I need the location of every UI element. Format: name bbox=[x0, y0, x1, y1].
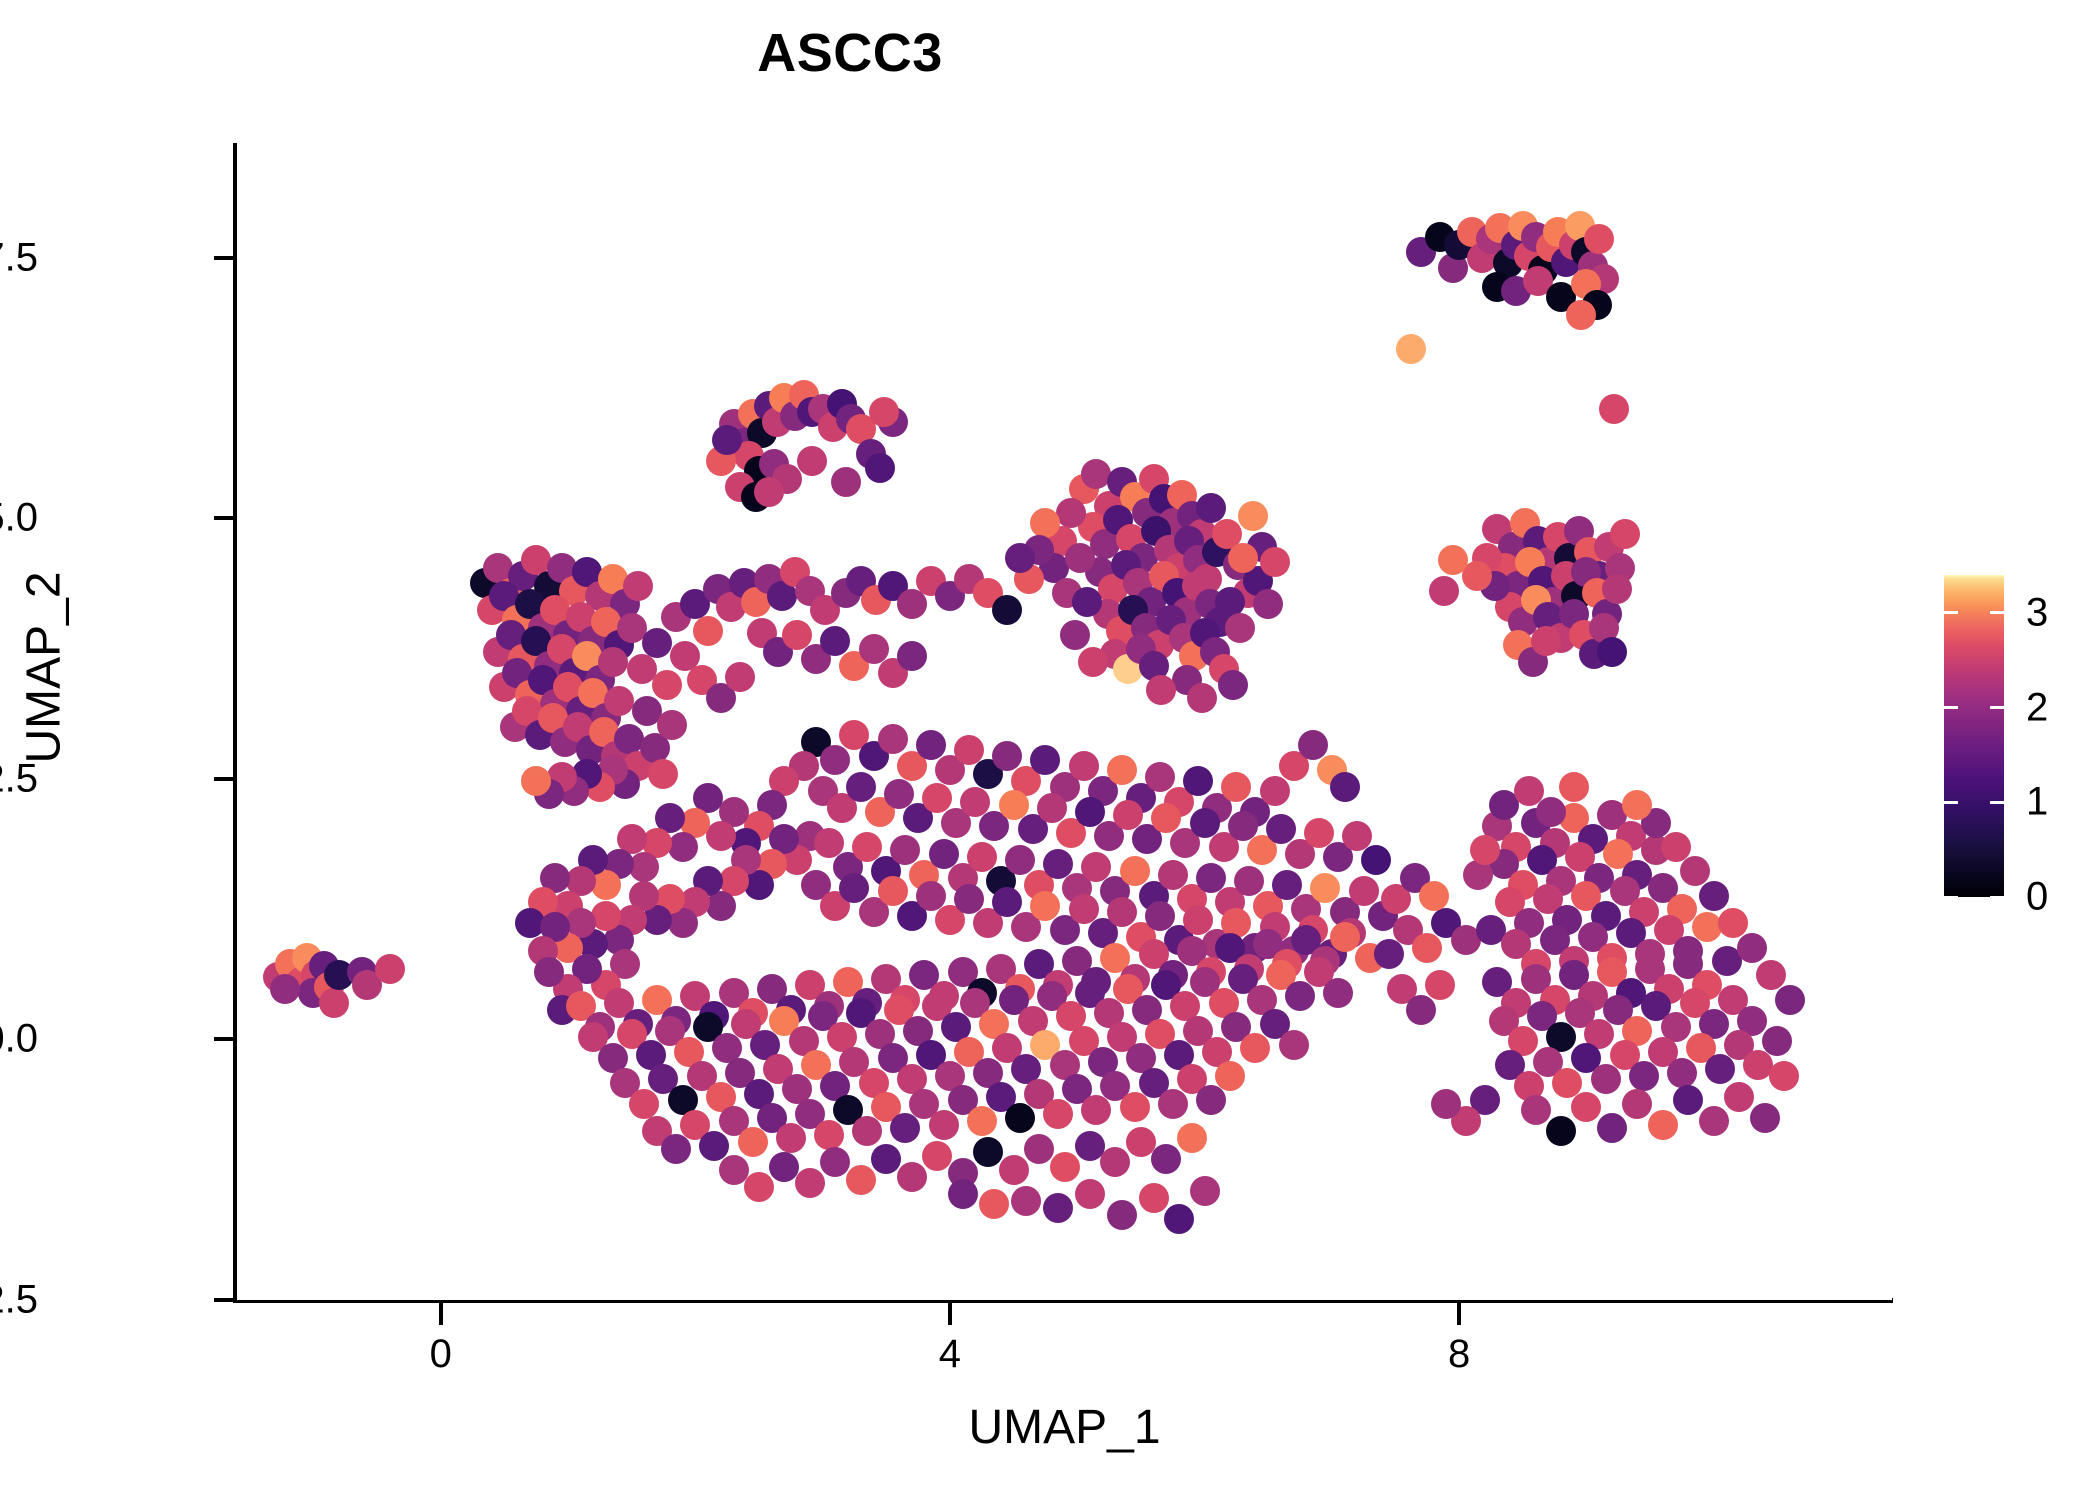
y-tick-mark bbox=[214, 256, 236, 260]
scatter-point bbox=[831, 467, 861, 497]
scatter-point bbox=[1429, 576, 1459, 606]
scatter-point bbox=[1470, 835, 1500, 865]
scatter-point bbox=[795, 1168, 825, 1198]
colorbar-tick-mark bbox=[1944, 706, 1958, 709]
scatter-point bbox=[1056, 498, 1086, 528]
scatter-point bbox=[890, 1113, 920, 1143]
x-tick-label: 8 bbox=[1448, 1332, 1470, 1377]
scatter-point bbox=[1196, 493, 1226, 523]
scatter-point bbox=[865, 453, 895, 483]
scatter-point bbox=[992, 887, 1022, 917]
scatter-point bbox=[754, 477, 784, 507]
scatter-point bbox=[897, 641, 927, 671]
scatter-point bbox=[1349, 876, 1379, 906]
scatter-point bbox=[1762, 1026, 1792, 1056]
scatter-point bbox=[1215, 1061, 1245, 1091]
scatter-point bbox=[693, 616, 723, 646]
scatter-point bbox=[668, 832, 698, 862]
scatter-point bbox=[1005, 1103, 1035, 1133]
scatter-point bbox=[1680, 856, 1710, 886]
y-tick-mark bbox=[214, 516, 236, 520]
scatter-point bbox=[1005, 845, 1035, 875]
scatter-point bbox=[1260, 776, 1290, 806]
scatter-point bbox=[1756, 960, 1786, 990]
colorbar-tick-mark bbox=[1990, 801, 2004, 804]
scatter-point bbox=[648, 759, 678, 789]
y-tick-mark bbox=[214, 1037, 236, 1041]
scatter-point bbox=[1673, 1085, 1703, 1115]
scatter-point bbox=[1078, 647, 1108, 677]
scatter-point bbox=[1005, 543, 1035, 573]
scatter-point bbox=[1667, 1058, 1697, 1088]
scatter-point bbox=[1419, 881, 1449, 911]
scatter-point bbox=[922, 1141, 952, 1171]
scatter-point bbox=[1145, 762, 1175, 792]
scatter-point bbox=[1536, 797, 1566, 827]
scatter-point bbox=[1240, 1033, 1270, 1063]
scatter-point bbox=[878, 724, 908, 754]
scatter-point bbox=[1285, 981, 1315, 1011]
scatter-point bbox=[521, 766, 551, 796]
scatter-point bbox=[1225, 613, 1255, 643]
scatter-point bbox=[1196, 1085, 1226, 1115]
scatter-point bbox=[1238, 501, 1268, 531]
scatter-point bbox=[820, 1147, 850, 1177]
scatter-point bbox=[1737, 933, 1767, 963]
scatter-point bbox=[1531, 626, 1561, 656]
scatter-point bbox=[1546, 1116, 1576, 1146]
x-axis-title: UMAP_1 bbox=[237, 1400, 1892, 1455]
scatter-point bbox=[992, 595, 1022, 625]
scatter-point bbox=[1024, 1134, 1054, 1164]
scatter-point bbox=[878, 876, 908, 906]
scatter-point bbox=[1438, 545, 1468, 575]
scatter-point bbox=[1221, 772, 1251, 802]
y-axis-title: UMAP_2 bbox=[17, 358, 72, 978]
scatter-point bbox=[916, 881, 946, 911]
scatter-point bbox=[1323, 978, 1353, 1008]
x-tick-mark bbox=[1457, 1303, 1461, 1325]
colorbar-tick-label: 2 bbox=[2026, 685, 2048, 730]
x-tick-mark bbox=[948, 1303, 952, 1325]
scatter-point bbox=[738, 1127, 768, 1157]
scatter-point bbox=[1330, 772, 1360, 802]
scatter-point bbox=[973, 1137, 1003, 1167]
scatter-point bbox=[1120, 856, 1150, 886]
scatter-point bbox=[719, 1155, 749, 1185]
y-tick-label: 7.5 bbox=[0, 235, 38, 280]
scatter-point bbox=[1599, 394, 1629, 424]
scatter-point bbox=[1591, 1064, 1621, 1094]
scatter-point bbox=[604, 686, 634, 716]
scatter-point bbox=[1177, 1123, 1207, 1153]
scatter-point bbox=[948, 1179, 978, 1209]
scatter-point bbox=[1050, 1152, 1080, 1182]
scatter-point bbox=[1769, 1061, 1799, 1091]
scatter-point bbox=[1648, 1110, 1678, 1140]
colorbar-legend: 3210 bbox=[1944, 575, 2084, 900]
scatter-point bbox=[1396, 334, 1426, 364]
scatter-point bbox=[642, 628, 672, 658]
scatter-point bbox=[1602, 574, 1632, 604]
scatter-point bbox=[375, 954, 405, 984]
scatter-point bbox=[598, 647, 628, 677]
scatter-layer bbox=[237, 143, 1892, 1300]
scatter-point bbox=[1571, 1092, 1601, 1122]
scatter-point bbox=[1699, 881, 1729, 911]
colorbar-tick-mark bbox=[1990, 896, 2004, 899]
scatter-point bbox=[820, 626, 850, 656]
scatter-point bbox=[1775, 985, 1805, 1015]
scatter-point bbox=[1298, 730, 1328, 760]
scatter-point bbox=[846, 772, 876, 802]
scatter-point bbox=[1330, 922, 1360, 952]
colorbar-tick-mark bbox=[1944, 611, 1958, 614]
colorbar-tick-label: 1 bbox=[2026, 780, 2048, 825]
scatter-point bbox=[922, 783, 952, 813]
x-tick-mark bbox=[439, 1303, 443, 1325]
scatter-point bbox=[1412, 933, 1442, 963]
scatter-point bbox=[776, 1123, 806, 1153]
scatter-point bbox=[1164, 1204, 1194, 1234]
scatter-point bbox=[657, 710, 687, 740]
scatter-point bbox=[661, 1134, 691, 1164]
scatter-point bbox=[1190, 808, 1220, 838]
scatter-point bbox=[1107, 897, 1137, 927]
scatter-point bbox=[744, 1172, 774, 1202]
scatter-point bbox=[629, 1089, 659, 1119]
scatter-point bbox=[979, 1189, 1009, 1219]
scatter-point bbox=[916, 730, 946, 760]
scatter-point bbox=[1559, 772, 1589, 802]
scatter-point bbox=[1218, 670, 1248, 700]
scatter-point bbox=[1260, 547, 1290, 577]
scatter-point bbox=[1081, 1095, 1111, 1125]
scatter-point bbox=[1069, 751, 1099, 781]
scatter-point bbox=[1139, 1183, 1169, 1213]
scatter-point bbox=[1597, 637, 1627, 667]
scatter-point bbox=[1724, 1082, 1754, 1112]
scatter-point bbox=[270, 974, 300, 1004]
scatter-point bbox=[1750, 1103, 1780, 1133]
scatter-point bbox=[1228, 543, 1258, 573]
colorbar-tick-label: 3 bbox=[2026, 590, 2048, 635]
scatter-point bbox=[1521, 1095, 1551, 1125]
scatter-point bbox=[1622, 1089, 1652, 1119]
scatter-point bbox=[1253, 589, 1283, 619]
colorbar-tick-mark bbox=[1944, 801, 1958, 804]
y-tick-label: -2.5 bbox=[0, 1278, 38, 1323]
scatter-point bbox=[1043, 1099, 1073, 1129]
scatter-point bbox=[1107, 1200, 1137, 1230]
scatter-point bbox=[1718, 908, 1748, 938]
scatter-point bbox=[1151, 1144, 1181, 1174]
colorbar-tick-mark bbox=[1990, 611, 2004, 614]
scatter-point bbox=[1011, 1186, 1041, 1216]
scatter-point bbox=[846, 1165, 876, 1195]
scatter-point bbox=[629, 852, 659, 882]
scatter-point bbox=[1266, 814, 1296, 844]
scatter-point bbox=[1043, 1193, 1073, 1223]
scatter-point bbox=[1060, 620, 1090, 650]
scatter-point bbox=[890, 835, 920, 865]
scatter-point bbox=[706, 821, 736, 851]
scatter-point bbox=[652, 670, 682, 700]
scatter-point bbox=[1699, 1106, 1729, 1136]
scatter-point bbox=[1279, 1030, 1309, 1060]
scatter-point bbox=[1158, 1089, 1188, 1119]
scatter-point bbox=[1234, 866, 1264, 896]
plot-panel bbox=[237, 143, 1892, 1300]
scatter-point bbox=[1075, 1179, 1105, 1209]
y-tick-label: 0.0 bbox=[0, 1017, 38, 1062]
scatter-point bbox=[1065, 543, 1095, 573]
scatter-point bbox=[1597, 1113, 1627, 1143]
scatter-point bbox=[319, 988, 349, 1018]
colorbar-gradient bbox=[1944, 575, 2004, 897]
scatter-point bbox=[712, 425, 742, 455]
scatter-point bbox=[797, 446, 827, 476]
scatter-point bbox=[725, 662, 755, 692]
scatter-point bbox=[1705, 1054, 1735, 1084]
scatter-point bbox=[1037, 793, 1067, 823]
y-tick-mark bbox=[214, 1298, 236, 1302]
scatter-point bbox=[820, 745, 850, 775]
scatter-point bbox=[897, 1162, 927, 1192]
scatter-point bbox=[999, 1155, 1029, 1185]
scatter-point bbox=[1629, 1061, 1659, 1091]
scatter-point bbox=[1146, 675, 1176, 705]
scatter-point bbox=[1107, 755, 1137, 785]
scatter-point bbox=[1190, 1176, 1220, 1206]
scatter-point bbox=[1406, 995, 1436, 1025]
scatter-point bbox=[859, 634, 889, 664]
x-tick-label: 4 bbox=[939, 1332, 961, 1377]
scatter-point bbox=[1374, 939, 1404, 969]
scatter-point bbox=[1425, 970, 1455, 1000]
scatter-point bbox=[1030, 745, 1060, 775]
scatter-point bbox=[929, 1110, 959, 1140]
scatter-point bbox=[1361, 845, 1391, 875]
scatter-point bbox=[1183, 766, 1213, 796]
scatter-point bbox=[852, 1116, 882, 1146]
colorbar-tick-mark bbox=[1990, 706, 2004, 709]
scatter-point bbox=[1584, 224, 1614, 254]
scatter-point bbox=[623, 571, 653, 601]
scatter-point bbox=[1566, 300, 1596, 330]
scatter-point bbox=[814, 1120, 844, 1150]
colorbar-tick-label: 0 bbox=[2026, 875, 2048, 920]
feature-plot-root: ASCC3 -2.50.02.55.07.5 048 UMAP_1 UMAP_2… bbox=[0, 0, 2100, 1500]
scatter-point bbox=[967, 1106, 997, 1136]
scatter-point bbox=[1072, 587, 1102, 617]
scatter-point bbox=[1661, 832, 1691, 862]
scatter-point bbox=[534, 957, 564, 987]
scatter-point bbox=[1610, 519, 1640, 549]
scatter-point bbox=[992, 741, 1022, 771]
scatter-point bbox=[1187, 683, 1217, 713]
scatter-point bbox=[871, 1144, 901, 1174]
x-tick-label: 0 bbox=[430, 1332, 452, 1377]
y-tick-mark bbox=[214, 777, 236, 781]
scatter-point bbox=[699, 1131, 729, 1161]
scatter-point bbox=[869, 397, 899, 427]
scatter-point bbox=[1120, 1092, 1150, 1122]
page-title: ASCC3 bbox=[0, 22, 1700, 84]
colorbar-tick-mark bbox=[1944, 896, 1958, 899]
scatter-point bbox=[1100, 1147, 1130, 1177]
